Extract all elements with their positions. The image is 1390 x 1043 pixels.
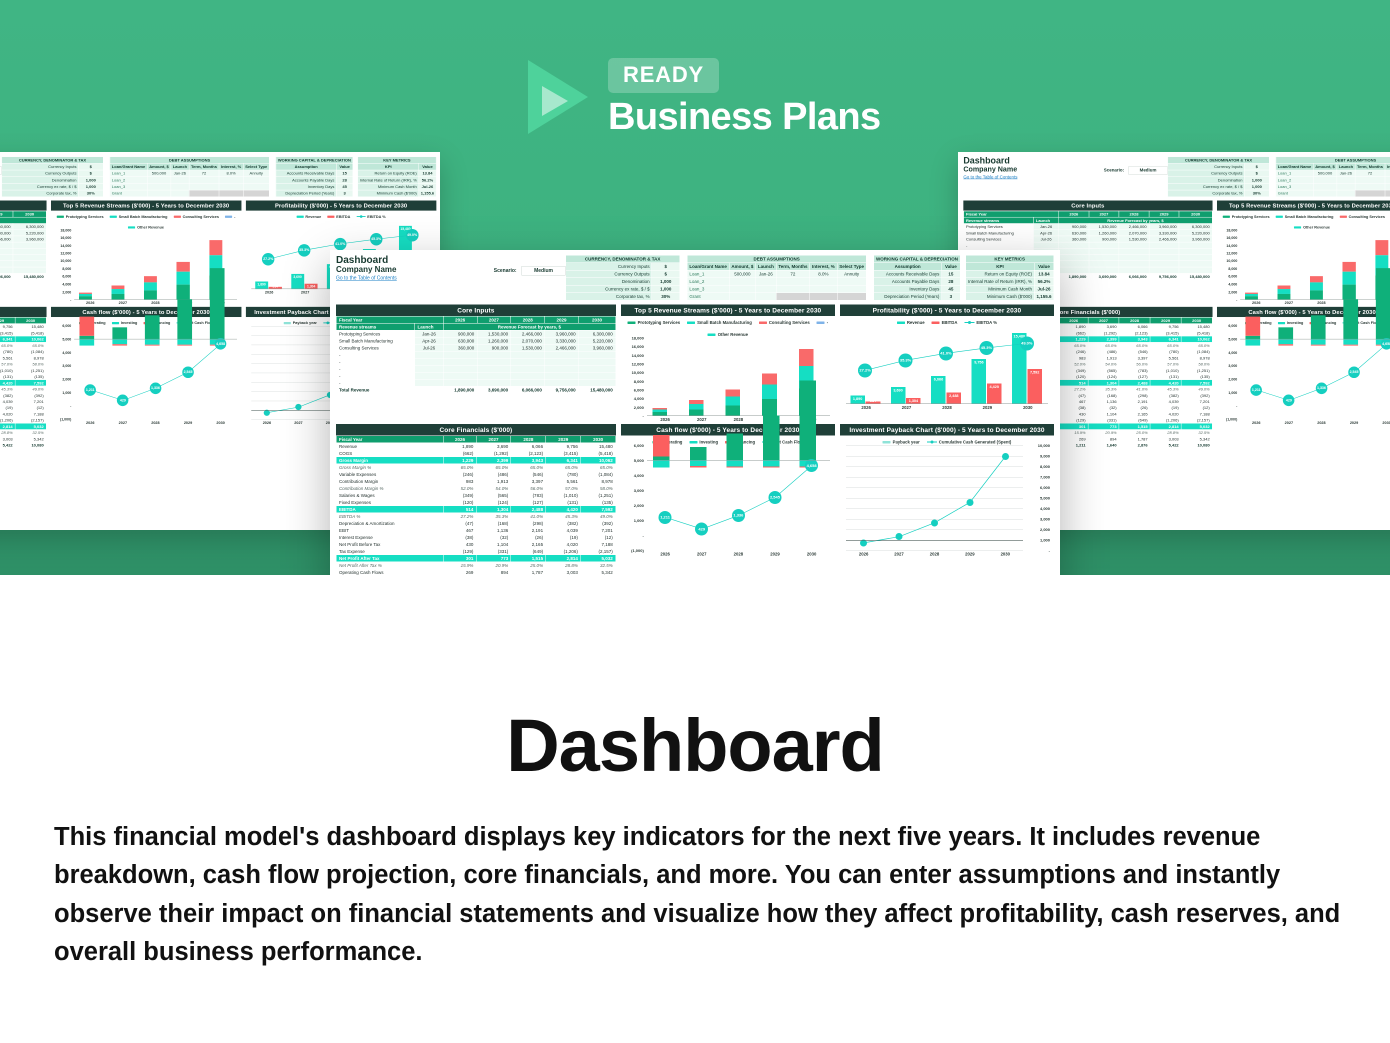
- stream-value[interactable]: 1,530,000: [511, 344, 545, 351]
- debt-cell[interactable]: [219, 183, 243, 190]
- row-value[interactable]: Jul-26: [1034, 285, 1054, 293]
- row-value[interactable]: 1,155.6: [1034, 293, 1054, 301]
- metric-value: (129): [444, 548, 476, 555]
- net-cash-flow-bubble: 1,336: [732, 509, 745, 522]
- debt-cell[interactable]: [837, 278, 866, 286]
- metric-value: (486): [476, 471, 511, 478]
- currency-row-value[interactable]: $: [78, 163, 103, 170]
- scenario-selector[interactable]: Scenario:Medium: [494, 266, 566, 276]
- stream-name[interactable]: Prototyping Services: [336, 330, 415, 337]
- stream-value[interactable]: 1,260,000: [477, 337, 511, 344]
- debt-cell[interactable]: 72: [189, 170, 219, 177]
- y-tick: -: [1049, 548, 1050, 553]
- stream-launch[interactable]: [415, 358, 443, 365]
- debt-cell[interactable]: [1355, 177, 1385, 184]
- debt-cell[interactable]: [1355, 183, 1385, 190]
- debt-cell[interactable]: Loan_3: [110, 183, 147, 190]
- legend-item: Investing: [689, 440, 718, 445]
- ebitda-percent-bubble: 27.2%: [262, 253, 274, 265]
- total-value: 6,066,000: [511, 386, 545, 393]
- y-tick: 10,000: [1226, 259, 1237, 263]
- row-value[interactable]: 45: [336, 183, 352, 190]
- debt-cell[interactable]: 72: [776, 270, 810, 278]
- stream-value[interactable]: [511, 372, 545, 379]
- debt-cell[interactable]: Loan_2: [110, 177, 147, 184]
- debt-cell[interactable]: [189, 177, 219, 184]
- debt-cell[interactable]: 500,000: [1313, 170, 1337, 177]
- table-of-contents-link[interactable]: Go to the Table of Contents: [963, 175, 1075, 180]
- currency-row-value[interactable]: $: [78, 170, 103, 177]
- table-row: -: [336, 372, 615, 379]
- x-tick: 2027: [1273, 301, 1306, 308]
- y-axis: (1,000)-1,0002,0003,0004,0005,0006,000: [624, 446, 646, 551]
- y-tick: 3,000: [62, 364, 71, 368]
- table-row: Accounts Receivable Days15: [276, 170, 353, 177]
- x-axis: 20262027202820292030: [647, 552, 830, 560]
- debt-cell[interactable]: [1313, 183, 1337, 190]
- stream-launch[interactable]: Jul-26: [415, 344, 443, 351]
- y-tick: 10,000: [632, 370, 644, 375]
- debt-cell[interactable]: [219, 190, 243, 197]
- core-financials-title: Core Financials ($'000): [336, 424, 616, 436]
- metric-value: 1,229: [444, 457, 476, 464]
- legend-item: Small Batch Manufacturing: [687, 320, 752, 325]
- debt-cell[interactable]: [1313, 190, 1337, 197]
- debt-cell[interactable]: [729, 293, 756, 301]
- row-value[interactable]: 56.2%: [1034, 278, 1054, 286]
- currency-row-value[interactable]: 30%: [78, 190, 103, 197]
- row-value[interactable]: 13.84: [1034, 270, 1054, 278]
- stream-value[interactable]: [477, 372, 511, 379]
- stream-value[interactable]: [443, 365, 477, 372]
- row-value[interactable]: 1,155.6: [419, 190, 436, 197]
- currency-row-label: Currency Inputs: [566, 263, 652, 271]
- metric-value: 41.0%: [511, 513, 546, 520]
- column-header: Amount, $: [147, 163, 171, 170]
- total-value: 3,690,000: [1089, 273, 1119, 279]
- metric-value: 467: [444, 527, 476, 534]
- core-inputs-table: Fiscal Year20262027202820292030Revenue s…: [336, 316, 616, 394]
- metric-value: 35.3%: [476, 513, 511, 520]
- row-value[interactable]: 3: [942, 293, 961, 301]
- table-row: Loan_2: [687, 278, 866, 286]
- stream-value[interactable]: 3,960,000: [578, 344, 615, 351]
- row-label: Depreciation Period (Years): [276, 190, 336, 197]
- total-label: Total Revenue: [336, 386, 415, 393]
- stream-value[interactable]: [545, 351, 579, 358]
- payback-chart: Payback yearCumulative Cash Generated (S…: [840, 436, 1054, 567]
- table-row: Loan_2: [110, 177, 269, 184]
- stream-value[interactable]: 1,530,000: [477, 330, 511, 337]
- debt-cell[interactable]: [171, 177, 189, 184]
- x-axis: 20262027202820292030: [1240, 301, 1390, 308]
- row-value[interactable]: 56.2%: [419, 177, 436, 184]
- stream-name[interactable]: -: [336, 351, 415, 358]
- column-header: Launch: [171, 163, 189, 170]
- debt-cell[interactable]: Loan_3: [687, 285, 729, 293]
- table-row: EBITDA5141,3042,4884,4207,592: [336, 506, 615, 513]
- debt-cell[interactable]: [1385, 190, 1390, 197]
- stream-value[interactable]: [443, 372, 477, 379]
- table-row: COGS(662)(1,292)(2,123)(3,415)(5,418): [336, 450, 615, 457]
- metric-value: 65.0%: [444, 464, 476, 471]
- debt-cell[interactable]: [810, 278, 837, 286]
- stream-value[interactable]: [511, 365, 545, 372]
- debt-cell[interactable]: [189, 183, 219, 190]
- table-row: Cash1,2111,6402,8765,42210,080: [0, 442, 46, 448]
- debt-cell[interactable]: [1313, 177, 1337, 184]
- stream-value[interactable]: [545, 365, 579, 372]
- table-row: Currency Inputs$: [566, 263, 680, 271]
- legend-label: Prototyping Services: [638, 320, 681, 325]
- stream-name[interactable]: -: [336, 379, 415, 386]
- debt-cell[interactable]: [147, 183, 171, 190]
- y-tick: 2,000: [634, 503, 644, 508]
- stream-value[interactable]: 2,466,000: [511, 330, 545, 337]
- column-header: KPI: [358, 163, 419, 170]
- debt-cell[interactable]: [243, 177, 269, 184]
- profitability-chart-title: Profitability ($'000) - 5 Years to Decem…: [246, 201, 437, 211]
- currency-row-value[interactable]: $: [652, 270, 680, 278]
- currency-row-value[interactable]: 1,000: [1244, 183, 1269, 190]
- y-tick: -: [642, 533, 643, 538]
- scenario-selector[interactable]: Scenario:Medium: [1104, 166, 1168, 174]
- stream-value[interactable]: [545, 379, 579, 386]
- metric-value: (19): [546, 534, 581, 541]
- metric-value: (298): [511, 520, 546, 527]
- debt-cell[interactable]: Jan-26: [171, 170, 189, 177]
- debt-cell[interactable]: [243, 190, 269, 197]
- table-row: Denomination1,000: [1168, 177, 1269, 184]
- table-row: -: [336, 365, 615, 372]
- legend-item: EBITDA %: [964, 320, 997, 325]
- legend-item: Consulting Services: [174, 214, 219, 218]
- net-cash-flow-line: [74, 326, 237, 419]
- debt-cell[interactable]: Grant: [687, 293, 729, 301]
- total-value: 9,756,000: [0, 273, 13, 279]
- stream-value[interactable]: [477, 358, 511, 365]
- stream-name[interactable]: -: [336, 358, 415, 365]
- debt-cell[interactable]: Loan_2: [687, 278, 729, 286]
- debt-cell[interactable]: Loan_1: [687, 270, 729, 278]
- scenario-label: Scenario:: [1104, 168, 1124, 173]
- debt-cell[interactable]: Grant: [1276, 190, 1313, 197]
- core-financials-table: Fiscal Year20262027202820292030Revenue1,…: [0, 317, 46, 448]
- row-value[interactable]: 15: [942, 270, 961, 278]
- stream-value[interactable]: 360,000: [443, 344, 477, 351]
- y-tick: 5,000: [1228, 337, 1237, 341]
- total-value: 6,066,000: [1119, 273, 1149, 279]
- metric-value: (649): [511, 548, 546, 555]
- currency-panel-title: CURRENCY, DENOMINATOR & TAX: [566, 255, 680, 263]
- column-header: Loan/Grant Name: [1276, 163, 1313, 170]
- metric-value: 3,943: [511, 457, 546, 464]
- row-value[interactable]: 28: [942, 278, 961, 286]
- stream-value[interactable]: 2,466,000: [545, 344, 579, 351]
- table-row: Accounts Payable Days28: [874, 278, 961, 286]
- debt-cell[interactable]: [776, 285, 810, 293]
- bar-segment: [726, 390, 741, 397]
- working-capital-panel-title: WORKING CAPITAL & DEPRECIATION: [276, 157, 353, 164]
- debt-cell[interactable]: [1385, 183, 1390, 190]
- y-tick: 10,000: [1038, 443, 1050, 448]
- metric-value: 7,201: [581, 527, 616, 534]
- stream-value[interactable]: [443, 351, 477, 358]
- legend-label: Investing: [1287, 321, 1304, 325]
- y-tick: 8,000: [62, 267, 71, 271]
- currency-row-value[interactable]: 1,000: [78, 177, 103, 184]
- debt-cell[interactable]: Jan-26: [1337, 170, 1355, 177]
- table-row: Inventory Days45: [276, 183, 353, 190]
- stream-value[interactable]: [477, 379, 511, 386]
- stream-value[interactable]: 900,000: [477, 344, 511, 351]
- debt-cell[interactable]: 8.0%: [810, 270, 837, 278]
- row-value[interactable]: 13.84: [419, 170, 436, 177]
- column-header: KPI: [966, 263, 1035, 271]
- currency-row-value[interactable]: 1,000: [78, 183, 103, 190]
- stream-value[interactable]: [511, 379, 545, 386]
- metric-name: EBITDA %: [336, 513, 444, 520]
- table-row: Prototyping ServicesJan-26900,0001,530,0…: [336, 330, 615, 337]
- currency-row-value[interactable]: 30%: [1244, 190, 1269, 197]
- y-tick: 2,000: [1040, 527, 1050, 532]
- x-tick: 2026: [251, 290, 287, 297]
- debt-cell[interactable]: 500,000: [147, 170, 171, 177]
- total-value: 1,890,000: [443, 386, 477, 393]
- plot-area: 1,2114291,3362,5454,658: [647, 446, 830, 551]
- scenario-value[interactable]: Medium: [1129, 166, 1168, 174]
- stream-value[interactable]: [511, 358, 545, 365]
- debt-cell[interactable]: [1337, 183, 1355, 190]
- y-tick: 2,000: [634, 405, 644, 410]
- row-value[interactable]: 3: [336, 190, 352, 197]
- brand-logo: READY Business Plans: [528, 58, 881, 136]
- stream-value[interactable]: 5,220,000: [578, 337, 615, 344]
- metric-value: 7,188: [581, 541, 616, 548]
- stream-name[interactable]: -: [336, 365, 415, 372]
- debt-cell[interactable]: [837, 285, 866, 293]
- x-tick: 2028: [139, 301, 172, 308]
- x-tick: 2028: [1305, 301, 1338, 308]
- plot-area: [1240, 230, 1390, 299]
- row-value[interactable]: Jul-26: [419, 183, 436, 190]
- metric-value: (1,206): [546, 548, 581, 555]
- legend-item: Consulting Services: [1340, 214, 1385, 218]
- stream-value[interactable]: 900,000: [443, 330, 477, 337]
- cumulative-cash-point: [966, 499, 973, 506]
- debt-cell[interactable]: [1355, 190, 1385, 197]
- stream-value[interactable]: 2,070,000: [511, 337, 545, 344]
- debt-cell[interactable]: [171, 183, 189, 190]
- stream-value[interactable]: [578, 379, 615, 386]
- debt-cell[interactable]: [243, 183, 269, 190]
- debt-cell[interactable]: [189, 190, 219, 197]
- bar-segment: [209, 240, 222, 255]
- stream-value[interactable]: [477, 365, 511, 372]
- stream-value[interactable]: 630,000: [443, 337, 477, 344]
- row-value[interactable]: 15: [336, 170, 352, 177]
- debt-cell[interactable]: 72: [1355, 170, 1385, 177]
- debt-cell[interactable]: Loan_1: [1276, 170, 1313, 177]
- plot-area: 1,2114291,3362,5454,658: [1240, 326, 1390, 419]
- row-label: Inventory Days: [874, 285, 942, 293]
- debt-cell[interactable]: [837, 293, 866, 301]
- x-tick: 2027: [683, 417, 720, 425]
- metric-name: Interest Expense: [336, 534, 444, 541]
- metric-value: 65.0%: [546, 464, 581, 471]
- table-of-contents-link[interactable]: Go to the Table of Contents: [336, 276, 462, 282]
- revenue-chart: Prototyping ServicesSmall Batch Manufact…: [1217, 211, 1390, 304]
- metric-value: 49.0%: [581, 513, 616, 520]
- stream-launch[interactable]: [415, 365, 443, 372]
- currency-row-value[interactable]: $: [652, 263, 680, 271]
- debt-cell[interactable]: [729, 285, 756, 293]
- metric-value: 52.0%: [444, 485, 476, 492]
- currency-row-value[interactable]: 1,000: [1244, 177, 1269, 184]
- stream-value[interactable]: [443, 379, 477, 386]
- revenue-chart-title: Top 5 Revenue Streams ($'000) - 5 Years …: [51, 201, 242, 211]
- table-row: Grant: [110, 190, 269, 197]
- stream-name[interactable]: Consulting Services: [336, 344, 415, 351]
- legend-label: Prototyping Services: [66, 214, 104, 218]
- dashboard-label: Dashboard: [963, 156, 1075, 165]
- debt-cell[interactable]: [1337, 190, 1355, 197]
- metric-value: 57.0%: [546, 485, 581, 492]
- table-row: EBIT4671,1362,1914,0397,201: [336, 527, 615, 534]
- sheet-header: DashboardCompany NameGo to the Table of …: [336, 255, 1054, 301]
- cumulative-cash-point: [295, 404, 301, 410]
- scenario-value[interactable]: Medium: [522, 266, 566, 276]
- debt-cell[interactable]: Annuity: [243, 170, 269, 177]
- legend-item: -: [817, 320, 828, 325]
- debt-cell[interactable]: [147, 190, 171, 197]
- stream-value[interactable]: [578, 351, 615, 358]
- table-row: Denomination1,000: [566, 278, 680, 286]
- stream-value[interactable]: [545, 358, 579, 365]
- row-value[interactable]: 28: [336, 177, 352, 184]
- legend-label: EBITDA: [942, 320, 958, 325]
- row-label: Accounts Receivable Days: [276, 170, 336, 177]
- debt-cell[interactable]: Loan_3: [1276, 183, 1313, 190]
- debt-cell[interactable]: [171, 190, 189, 197]
- y-axis: (1,000)-1,0002,0003,0004,0005,0006,000: [1219, 326, 1239, 419]
- x-tick: 2029: [757, 552, 794, 560]
- column-header: Assumption: [874, 263, 942, 271]
- metric-value: 1,136: [476, 527, 511, 534]
- stream-value[interactable]: [578, 365, 615, 372]
- debt-cell[interactable]: Grant: [110, 190, 147, 197]
- total-value: 15,480,000: [1179, 273, 1212, 279]
- column-header: Amount, $: [1313, 163, 1337, 170]
- currency-panel: CURRENCY, DENOMINATOR & TAXCurrency Inpu…: [565, 255, 679, 301]
- debt-cell[interactable]: 8.0%: [1385, 170, 1390, 177]
- metric-value: 32.5%: [581, 562, 616, 569]
- y-tick: 5,000: [62, 337, 71, 341]
- metric-value: 1,211: [1059, 442, 1088, 448]
- ebitda-percent-bubble: 49.0%: [1020, 336, 1034, 350]
- stream-value[interactable]: [477, 351, 511, 358]
- legend-label: Investing: [699, 440, 718, 445]
- debt-cell[interactable]: [756, 285, 777, 293]
- row-value[interactable]: 45: [942, 285, 961, 293]
- debt-cell[interactable]: [219, 177, 243, 184]
- stream-launch[interactable]: Jan-26: [415, 330, 443, 337]
- debt-cell[interactable]: Loan_2: [1276, 177, 1313, 184]
- currency-row-label: Currency Inputs: [2, 163, 79, 170]
- stream-name[interactable]: Small Batch Manufacturing: [336, 337, 415, 344]
- total-value: 3,690,000: [477, 386, 511, 393]
- x-tick: 2028: [720, 417, 757, 425]
- stream-value[interactable]: 3,960,000: [545, 330, 579, 337]
- x-tick: 2026: [74, 301, 107, 308]
- debt-cell[interactable]: 500,000: [729, 270, 756, 278]
- currency-row-label: Currency ex rate, $ / $: [1168, 183, 1245, 190]
- currency-row-label: Denomination: [1168, 177, 1245, 184]
- currency-row-value[interactable]: 30%: [652, 293, 680, 301]
- debt-cell[interactable]: Jan-26: [756, 270, 777, 278]
- y-tick: 6,000: [1040, 485, 1050, 490]
- stream-launch[interactable]: [415, 351, 443, 358]
- metric-name: Gross Margin %: [336, 464, 444, 471]
- y-tick: 3,000: [1228, 364, 1237, 368]
- currency-row-value[interactable]: 1,000: [652, 285, 680, 293]
- debt-cell[interactable]: Annuity: [837, 270, 866, 278]
- bar-stack: [1277, 286, 1290, 300]
- debt-panel-title: DEBT ASSUMPTIONS: [110, 157, 269, 164]
- stream-value[interactable]: 6,300,000: [578, 330, 615, 337]
- stream-launch[interactable]: [415, 379, 443, 386]
- stream-value[interactable]: [511, 351, 545, 358]
- table-row: Revenue1,8903,6906,0669,75615,480: [336, 443, 615, 450]
- metric-value: (127): [511, 499, 546, 506]
- stream-launch[interactable]: [415, 372, 443, 379]
- currency-row-value[interactable]: $: [1244, 170, 1269, 177]
- sheet-header: DashboardCompany NameGo to the Table of …: [963, 156, 1390, 196]
- y-axis: (1,000)-1,0002,0003,0004,0005,0006,000: [53, 326, 73, 419]
- debt-cell[interactable]: [810, 293, 837, 301]
- plot-area: 1,8905143,6901,3046,0662,4889,7564,42015…: [846, 326, 1048, 404]
- stream-name[interactable]: -: [336, 372, 415, 379]
- debt-cell[interactable]: [1385, 177, 1390, 184]
- debt-cell[interactable]: [729, 278, 756, 286]
- debt-cell[interactable]: 8.0%: [219, 170, 243, 177]
- debt-cell[interactable]: [776, 293, 810, 301]
- stream-launch[interactable]: Apr-26: [415, 337, 443, 344]
- debt-cell[interactable]: [776, 278, 810, 286]
- currency-row-label: Corporate tax, %: [1168, 190, 1245, 197]
- metric-name: COGS: [336, 450, 444, 457]
- stream-value[interactable]: [443, 358, 477, 365]
- y-tick: 6,000: [634, 443, 644, 448]
- metric-value: (12): [581, 534, 616, 541]
- currency-row-value[interactable]: $: [1244, 163, 1269, 170]
- metric-value: (1,084): [581, 471, 616, 478]
- debt-cell[interactable]: [1337, 177, 1355, 184]
- stream-value[interactable]: 3,330,000: [545, 337, 579, 344]
- debt-cell[interactable]: [756, 278, 777, 286]
- stream-value[interactable]: [545, 372, 579, 379]
- stream-value[interactable]: [578, 372, 615, 379]
- legend-item: EBITDA: [932, 320, 958, 325]
- debt-cell[interactable]: [147, 177, 171, 184]
- currency-row-value[interactable]: 1,000: [652, 278, 680, 286]
- debt-cell[interactable]: [810, 285, 837, 293]
- debt-cell[interactable]: [756, 293, 777, 301]
- stream-value[interactable]: [578, 358, 615, 365]
- core-inputs-title: Core Inputs: [336, 305, 616, 317]
- debt-cell[interactable]: Loan_1: [110, 170, 147, 177]
- core-inputs-table: Fiscal Year20262027202820292030Revenue s…: [0, 211, 46, 280]
